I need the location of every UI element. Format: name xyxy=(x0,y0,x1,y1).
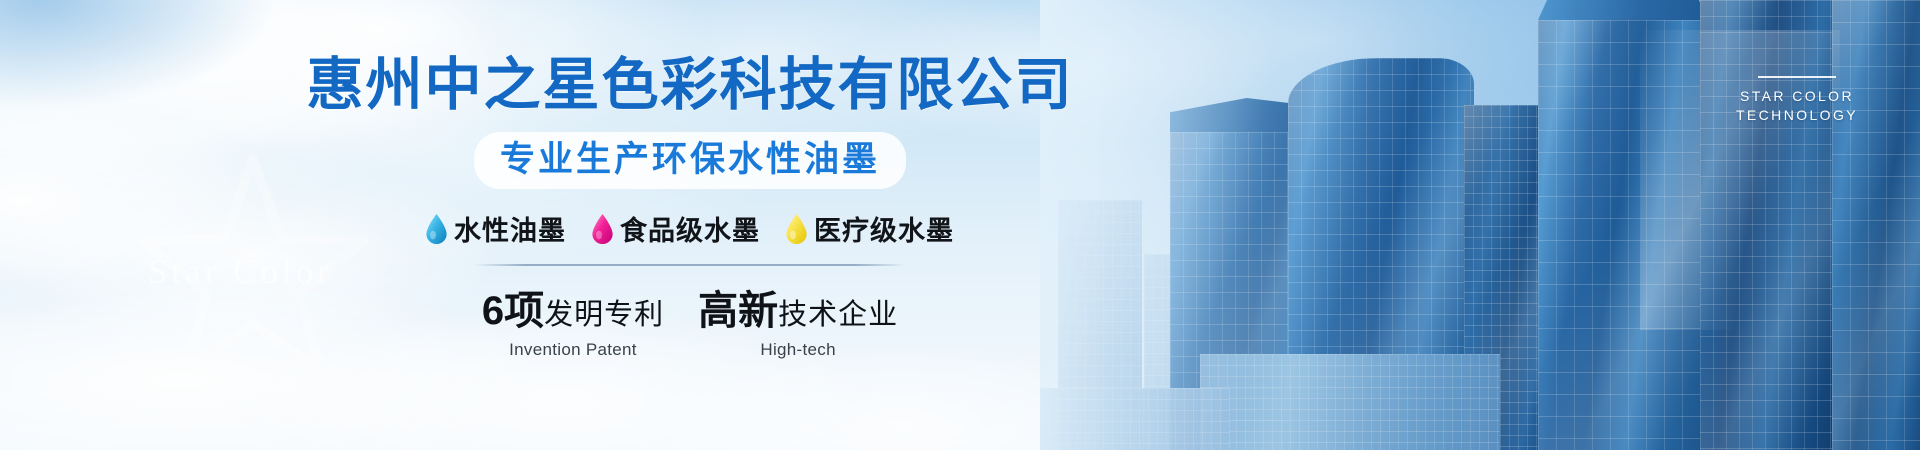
building-f xyxy=(1832,0,1920,450)
water-drop-icon xyxy=(786,214,807,244)
credential-list: 6项 发明专利 Invention Patent 高新 技术企业 High-te… xyxy=(482,278,898,360)
credential-item: 6项 发明专利 Invention Patent xyxy=(482,278,664,360)
banner-content: 惠州中之星色彩科技有限公司 专业生产环保水性油墨 水性油墨 xyxy=(0,0,1380,450)
feature-list: 水性油墨 食品级水墨 xyxy=(426,209,954,248)
building-d-crown xyxy=(1538,0,1708,20)
credential-strong: 高新 xyxy=(698,278,778,336)
feature-item: 水性油墨 xyxy=(426,209,566,248)
water-drop-icon xyxy=(426,214,447,244)
building-e xyxy=(1700,0,1838,450)
section-divider xyxy=(474,264,906,266)
credential-chinese: 高新 技术企业 xyxy=(698,278,898,336)
company-banner: Star Color STAR COL xyxy=(0,0,1920,450)
water-drop-icon xyxy=(592,214,613,244)
credential-strong: 6项 xyxy=(482,278,544,336)
subtitle-pill: 专业生产环保水性油墨 xyxy=(474,132,906,189)
brand-english-line-2: TECHNOLOGY xyxy=(1736,106,1858,125)
feature-item: 食品级水墨 xyxy=(592,209,760,248)
building-d-front-tower xyxy=(1538,20,1708,450)
brand-english-line-1: STAR COLOR xyxy=(1736,87,1858,106)
credential-chinese: 6项 发明专利 xyxy=(482,278,664,336)
credential-rest: 发明专利 xyxy=(544,291,664,333)
credential-english: Invention Patent xyxy=(482,340,664,360)
credential-english: High-tech xyxy=(698,340,898,360)
feature-item: 医疗级水墨 xyxy=(786,209,954,248)
credential-rest: 技术企业 xyxy=(778,291,898,333)
feature-label: 医疗级水墨 xyxy=(814,209,954,248)
company-headline: 惠州中之星色彩科技有限公司 xyxy=(307,56,1074,116)
brand-english-mark: STAR COLOR TECHNOLOGY xyxy=(1736,76,1858,125)
credential-item: 高新 技术企业 High-tech xyxy=(698,278,898,360)
brand-rule-divider xyxy=(1758,76,1836,78)
feature-label: 水性油墨 xyxy=(454,209,566,248)
feature-label: 食品级水墨 xyxy=(620,209,760,248)
